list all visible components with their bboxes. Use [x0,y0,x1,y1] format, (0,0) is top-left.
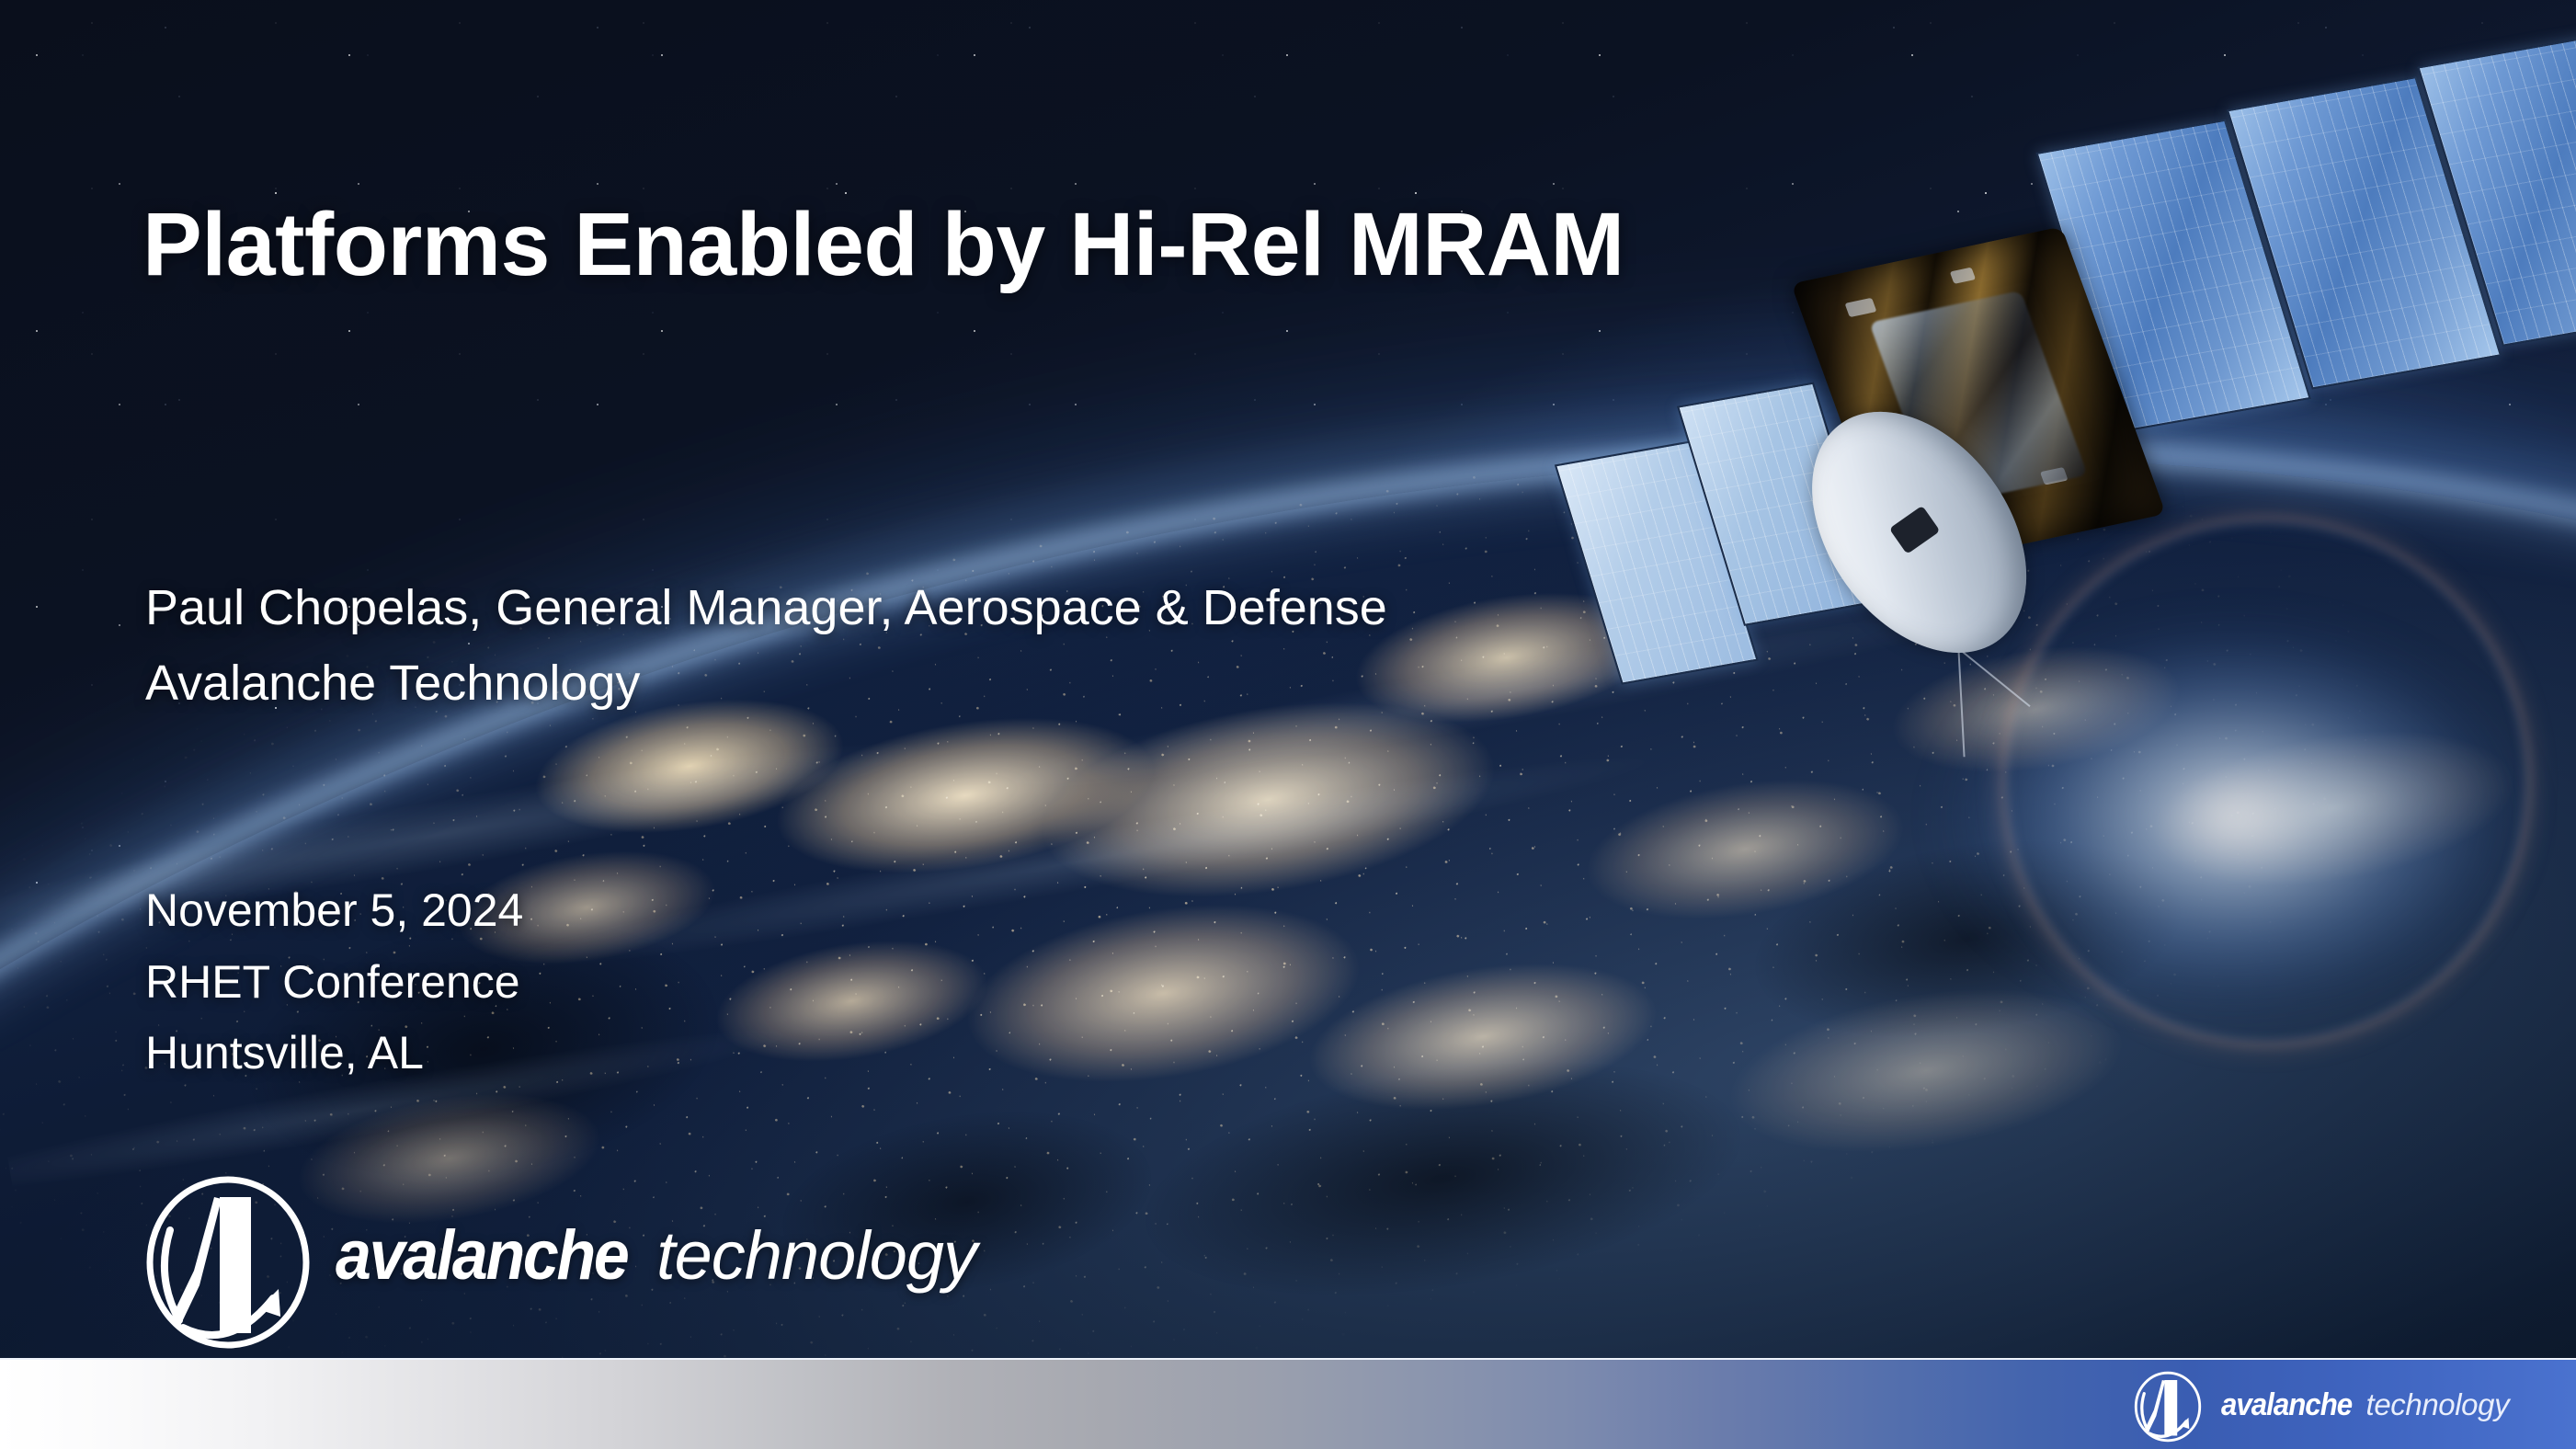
footer-wordmark: avalanchetechnology [2221,1387,2509,1423]
event-location: Huntsville, AL [145,1018,523,1090]
wordmark-technology: technology [656,1216,976,1295]
footer-avalanche-logo: avalanchetechnology [2133,1367,2491,1444]
footer-wordmark-technology: technology [2366,1387,2510,1422]
avalanche-wordmark: avalanchetechnology [336,1215,976,1295]
event-details-block: November 5, 2024 RHET Conference Huntsvi… [145,875,523,1090]
avalanche-a-mark-icon [142,1175,313,1350]
presenter-name-role: Paul Chopelas, General Manager, Aerospac… [145,570,1387,645]
presenter-company: Avalanche Technology [145,645,1387,721]
title-slide: Platforms Enabled by Hi-Rel MRAM Paul Ch… [0,0,2576,1449]
event-name: RHET Conference [145,947,523,1019]
footer-wordmark-avalanche: avalanche [2221,1387,2352,1423]
footer-avalanche-a-mark-icon [2133,1371,2203,1443]
event-date: November 5, 2024 [145,875,523,947]
avalanche-logo: avalanchetechnology [142,1175,915,1350]
presenter-block: Paul Chopelas, General Manager, Aerospac… [145,570,1387,721]
wordmark-avalanche: avalanche [336,1215,627,1295]
slide-title: Platforms Enabled by Hi-Rel MRAM [142,195,1624,295]
footer-bar: avalanchetechnology [0,1358,2576,1449]
